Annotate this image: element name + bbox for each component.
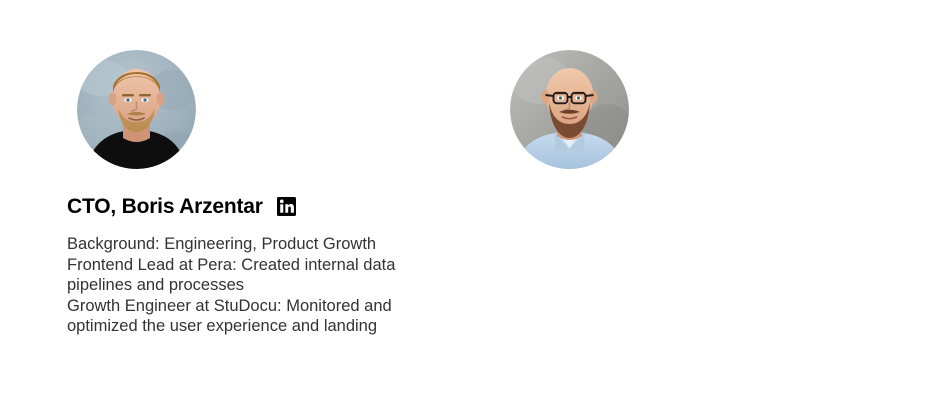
profile-bio: Background: Engineering, Product Growth … [67,234,412,337]
profile-card-cto: CTO, Boris Arzentar Background: Engineer… [0,0,474,412]
profile-card-ceo: CEO, Vasilije Markovic Background: Busin… [474,0,948,412]
avatar [510,50,629,169]
avatar [77,50,196,169]
team-slide: CTO, Boris Arzentar Background: Engineer… [0,0,948,412]
linkedin-icon[interactable] [277,197,296,216]
profile-name: CTO, Boris Arzentar [67,196,263,217]
profile-name-row: CTO, Boris Arzentar [67,196,296,217]
profiles-row: CTO, Boris Arzentar Background: Engineer… [0,0,948,412]
